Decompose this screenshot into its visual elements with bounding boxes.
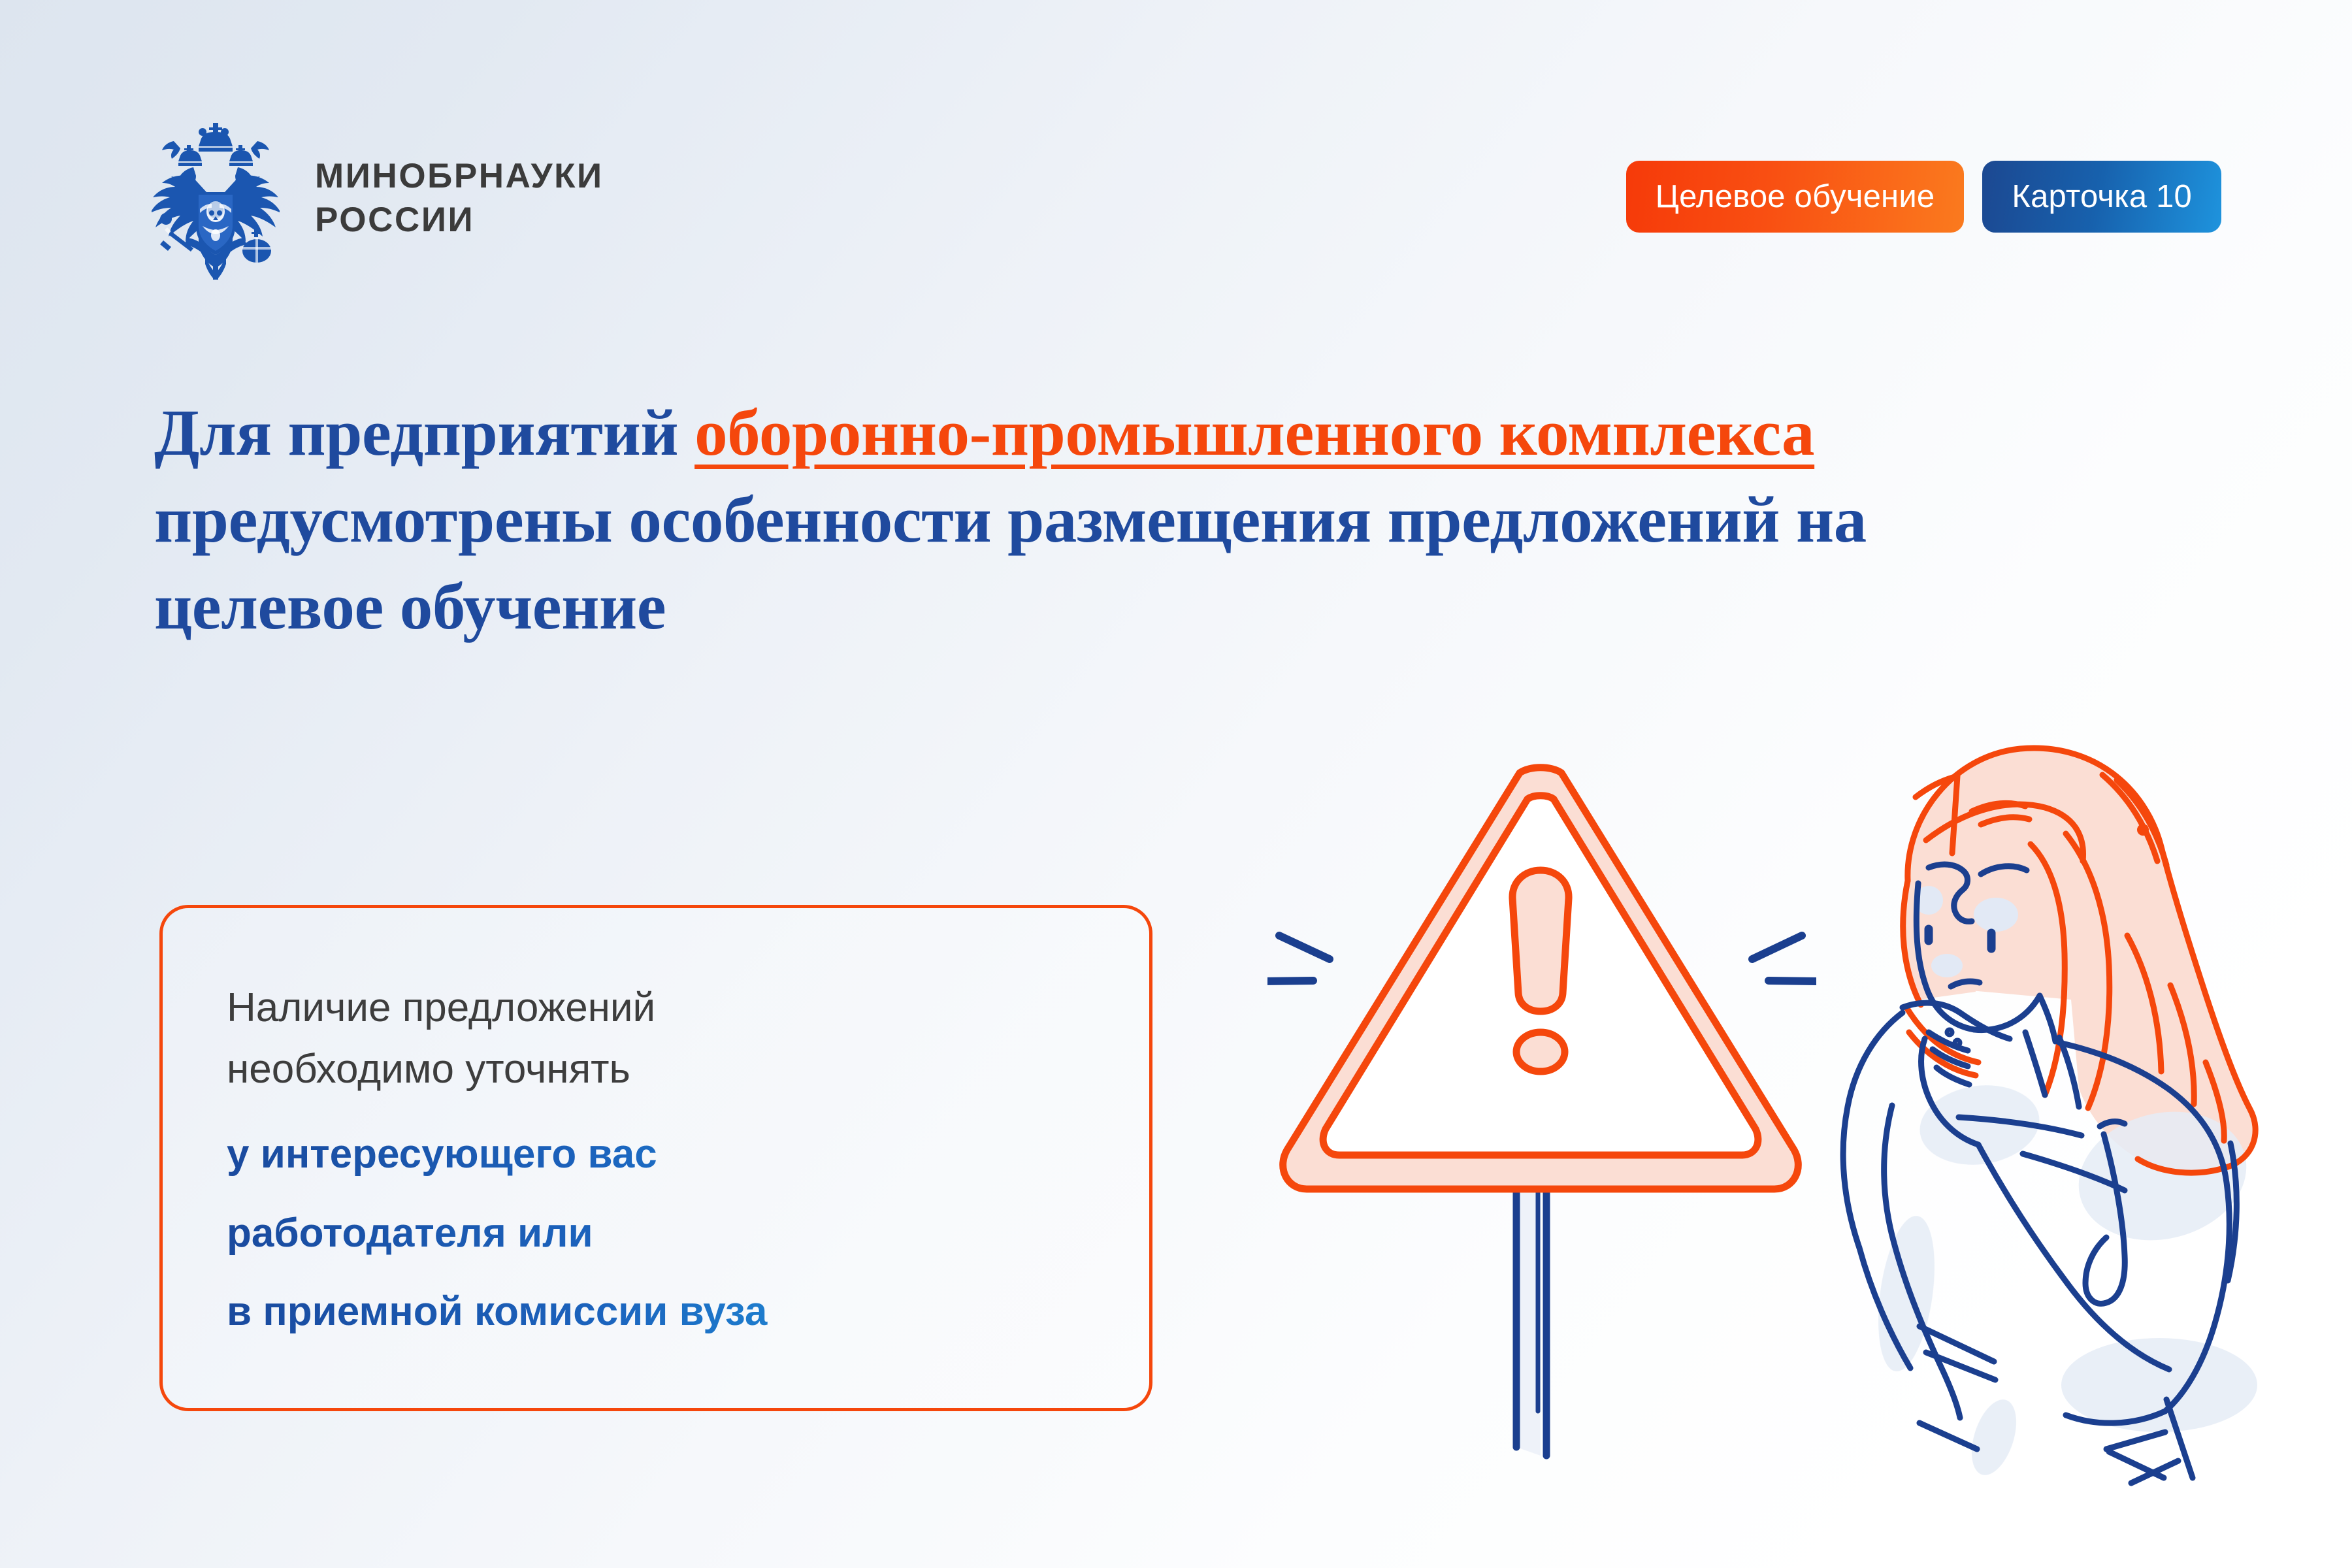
- info-card-line-5: в приемной комиссии вуза: [227, 1281, 1110, 1343]
- info-card-line-2: необходимо уточнять: [227, 1039, 1110, 1100]
- header: МИНОБРНАУКИ РОССИИ Целевое обучение Карт…: [0, 0, 2352, 307]
- exclamation-mark: [1512, 870, 1569, 1071]
- motion-lines-right: [1752, 936, 1816, 981]
- brand-text: МИНОБРНАУКИ РОССИИ: [315, 157, 604, 238]
- brand-line-2: РОССИИ: [315, 201, 604, 238]
- headline-part-2: предусмотрены особенности размещения пре…: [154, 483, 1867, 643]
- poster-canvas: МИНОБРНАУКИ РОССИИ Целевое обучение Карт…: [0, 0, 2352, 1568]
- brand-lockup: МИНОБРНАУКИ РОССИИ: [152, 116, 604, 280]
- info-card-line-3: у интересующего вас: [227, 1124, 1110, 1185]
- info-card-line-1: Наличие предложений: [227, 977, 1110, 1039]
- info-card: Наличие предложений необходимо уточнять …: [159, 905, 1152, 1411]
- info-card-line-4: работодателя или: [227, 1203, 1110, 1264]
- brand-line-1: МИНОБРНАУКИ: [315, 157, 604, 195]
- motion-lines-left: [1267, 936, 1330, 981]
- badge-topic[interactable]: Целевое обучение: [1626, 161, 1965, 233]
- info-card-body: Наличие предложений необходимо уточнять …: [227, 977, 1110, 1343]
- badge-card-number[interactable]: Карточка 10: [1982, 161, 2221, 233]
- thinking-woman-illustration: [1829, 725, 2313, 1535]
- warning-triangle-sign-icon: [1267, 725, 1816, 1463]
- page-title: Для предприятий оборонно-промышленного к…: [154, 389, 1970, 651]
- headline-part-1: Для предприятий: [154, 396, 694, 469]
- headline-accent: оборонно-промышленного комплекса: [694, 396, 1814, 469]
- badge-group: Целевое обучение Карточка 10: [1626, 161, 2221, 233]
- russian-double-headed-eagle-emblem-icon: [152, 116, 280, 280]
